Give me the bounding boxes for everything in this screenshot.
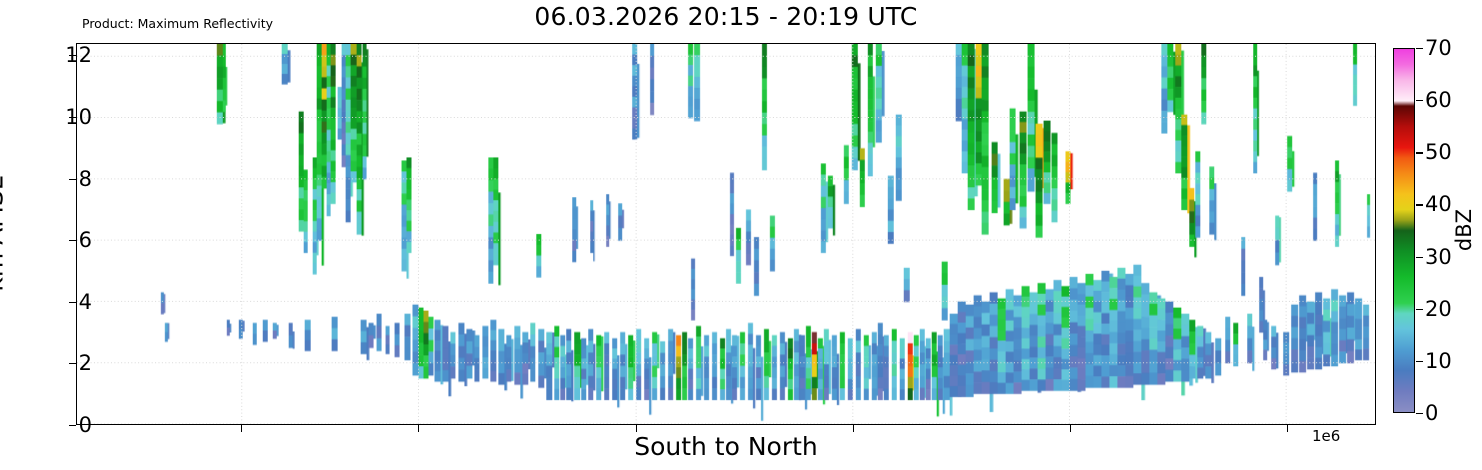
reflectivity-heatmap — [77, 44, 1375, 424]
y-axis-tick-label: 6 — [79, 228, 92, 252]
colorbar-tick — [1416, 361, 1423, 362]
y-axis-tick — [69, 363, 76, 364]
colorbar-tick-label: 70 — [1425, 36, 1452, 60]
y-axis-tick — [69, 425, 76, 426]
x-axis-offset-exponent: 1e6 — [1312, 427, 1340, 445]
radar-cross-section-figure: 06.03.2026 20:15 - 20:19 UTC Product: Ma… — [0, 0, 1482, 470]
colorbar-gradient — [1394, 49, 1414, 412]
colorbar-tick-label: 30 — [1425, 245, 1452, 269]
x-axis-tick — [1070, 425, 1071, 432]
y-axis-tick — [69, 179, 76, 180]
colorbar-tick-label: 10 — [1425, 349, 1452, 373]
colorbar-tick — [1416, 48, 1423, 49]
y-axis-label: km AMSL — [0, 176, 9, 291]
x-axis-tick — [241, 425, 242, 432]
colorbar-label: dBZ — [1452, 209, 1476, 251]
product-label: Product: Maximum Reflectivity — [82, 16, 273, 31]
y-axis-tick — [69, 55, 76, 56]
colorbar-tick — [1416, 309, 1423, 310]
x-axis-tick — [418, 425, 419, 432]
x-axis-tick — [853, 425, 854, 432]
colorbar-tick-label: 40 — [1425, 192, 1452, 216]
colorbar-tick-label: 60 — [1425, 88, 1452, 112]
colorbar-tick-label: 0 — [1425, 401, 1438, 425]
colorbar-tick — [1416, 100, 1423, 101]
y-axis-tick-label: 8 — [79, 167, 92, 191]
y-axis-tick — [69, 117, 76, 118]
colorbar-tick — [1416, 152, 1423, 153]
x-axis-label: South to North — [76, 432, 1376, 461]
y-axis-tick — [69, 302, 76, 303]
colorbar-tick — [1416, 257, 1423, 258]
colorbar[interactable] — [1393, 48, 1415, 413]
y-axis-tick — [69, 240, 76, 241]
plot-area[interactable] — [76, 43, 1376, 425]
y-axis-tick-label: 0 — [79, 413, 92, 437]
x-axis-tick — [1287, 425, 1288, 432]
x-axis-tick — [636, 425, 637, 432]
y-axis-tick-label: 4 — [79, 290, 92, 314]
colorbar-tick-label: 20 — [1425, 297, 1452, 321]
colorbar-tick — [1416, 204, 1423, 205]
colorbar-tick-label: 50 — [1425, 140, 1452, 164]
colorbar-tick — [1416, 413, 1423, 414]
y-axis-tick-label: 2 — [79, 351, 92, 375]
